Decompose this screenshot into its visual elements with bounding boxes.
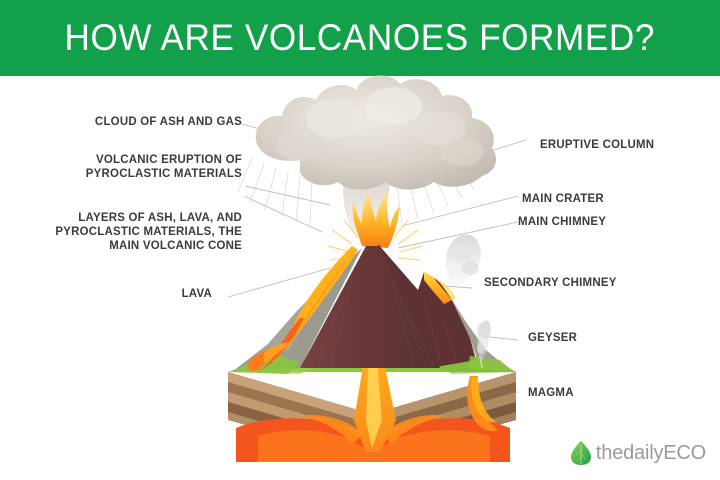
- label-secondary-chimney: SECONDARY CHIMNEY: [484, 275, 663, 289]
- leaf-icon: [570, 440, 592, 466]
- label-magma: MAGMA: [528, 385, 641, 399]
- logo-text: thedailyECO: [596, 442, 706, 465]
- label-lava: LAVA: [118, 286, 212, 300]
- label-main-crater: MAIN CRATER: [522, 191, 682, 205]
- label-main-chimney: MAIN CHIMNEY: [518, 214, 678, 228]
- label-geyser: GEYSER: [528, 330, 641, 344]
- label-volcanic-eruption-of-pyroclastic-materials: VOLCANIC ERUPTION OF PYROCLASTIC MATERIA…: [58, 152, 242, 180]
- label-eruptive-column: ERUPTIVE COLUMN: [540, 137, 700, 151]
- infographic-root: HOW ARE VOLCANOES FORMED?: [0, 0, 720, 480]
- thedailyeco-logo[interactable]: thedailyECO: [570, 440, 706, 466]
- label-layers-of-ash-lava-and-pyroclastic-materials: LAYERS OF ASH, LAVA, AND PYROCLASTIC MAT…: [48, 210, 242, 252]
- label-cloud-of-ash-and-gas: CLOUD OF ASH AND GAS: [58, 114, 242, 128]
